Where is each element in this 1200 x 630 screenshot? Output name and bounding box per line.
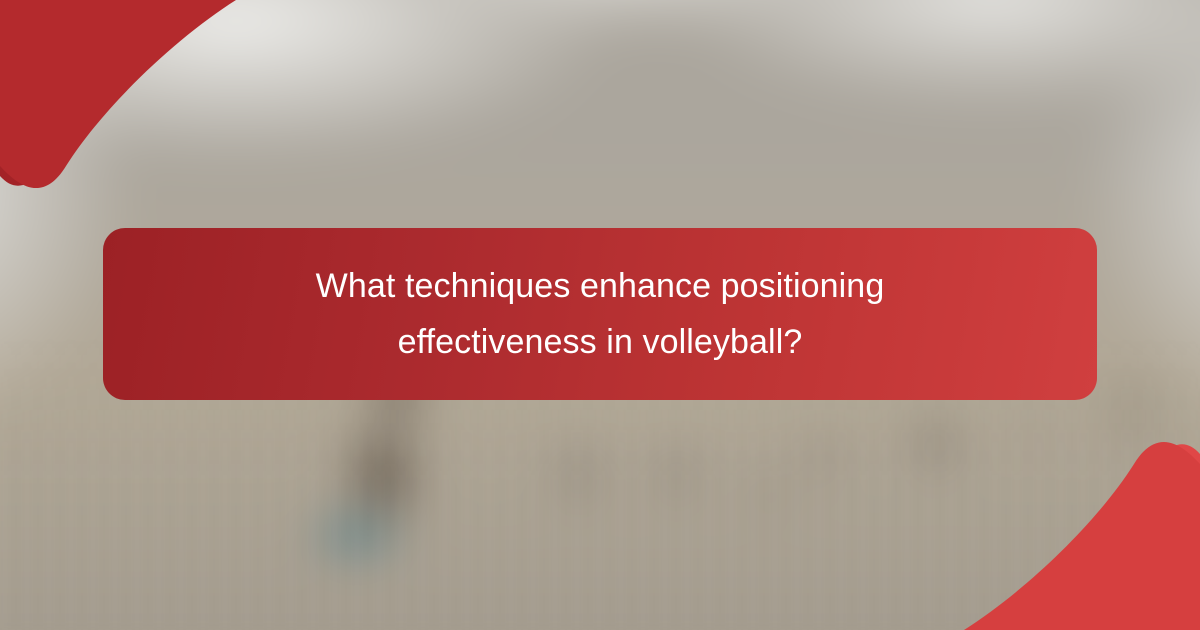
social-card-canvas: What techniques enhance positioning effe…	[0, 0, 1200, 630]
question-title: What techniques enhance positioning effe…	[260, 258, 940, 370]
question-banner: What techniques enhance positioning effe…	[103, 228, 1097, 400]
